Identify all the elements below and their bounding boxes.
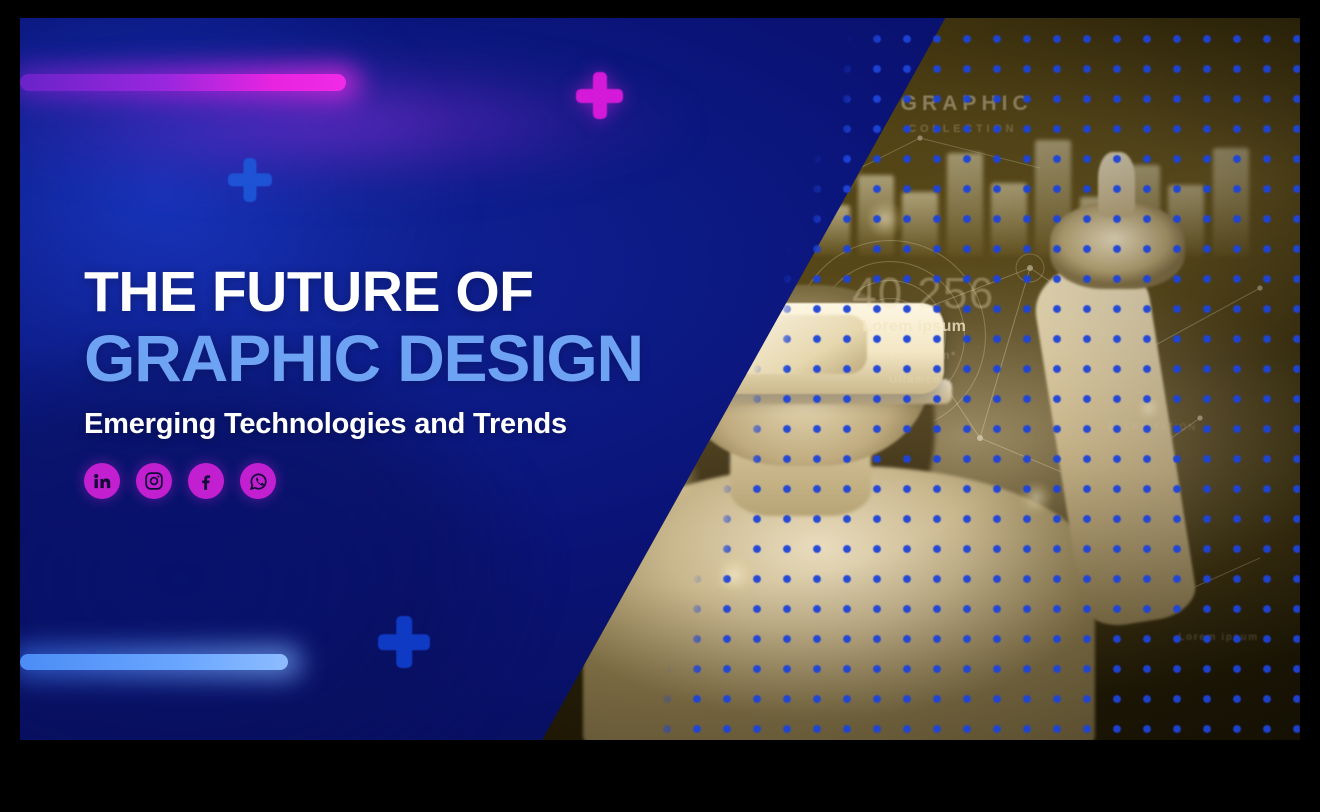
subtitle: Emerging Technologies and Trends <box>84 408 643 441</box>
instagram-icon <box>144 471 164 491</box>
slide-frame: GRAPHIC COLLECTION 40.256 Lorem ipsum Ex… <box>0 0 1320 812</box>
social-link-facebook[interactable] <box>188 463 224 499</box>
headline-block: THE FUTURE OF GRAPHIC DESIGN Emerging Te… <box>84 264 643 499</box>
headline-line-1: THE FUTURE OF <box>84 264 643 321</box>
facebook-icon <box>196 471 216 491</box>
social-link-linkedin[interactable] <box>84 463 120 499</box>
social-icon-row <box>84 463 643 499</box>
linkedin-icon <box>92 471 112 491</box>
social-link-whatsapp[interactable] <box>240 463 276 499</box>
headline-line-2: GRAPHIC DESIGN <box>84 325 643 392</box>
presentation-slide: GRAPHIC COLLECTION 40.256 Lorem ipsum Ex… <box>20 18 1300 740</box>
whatsapp-icon <box>248 471 269 492</box>
social-link-instagram[interactable] <box>136 463 172 499</box>
